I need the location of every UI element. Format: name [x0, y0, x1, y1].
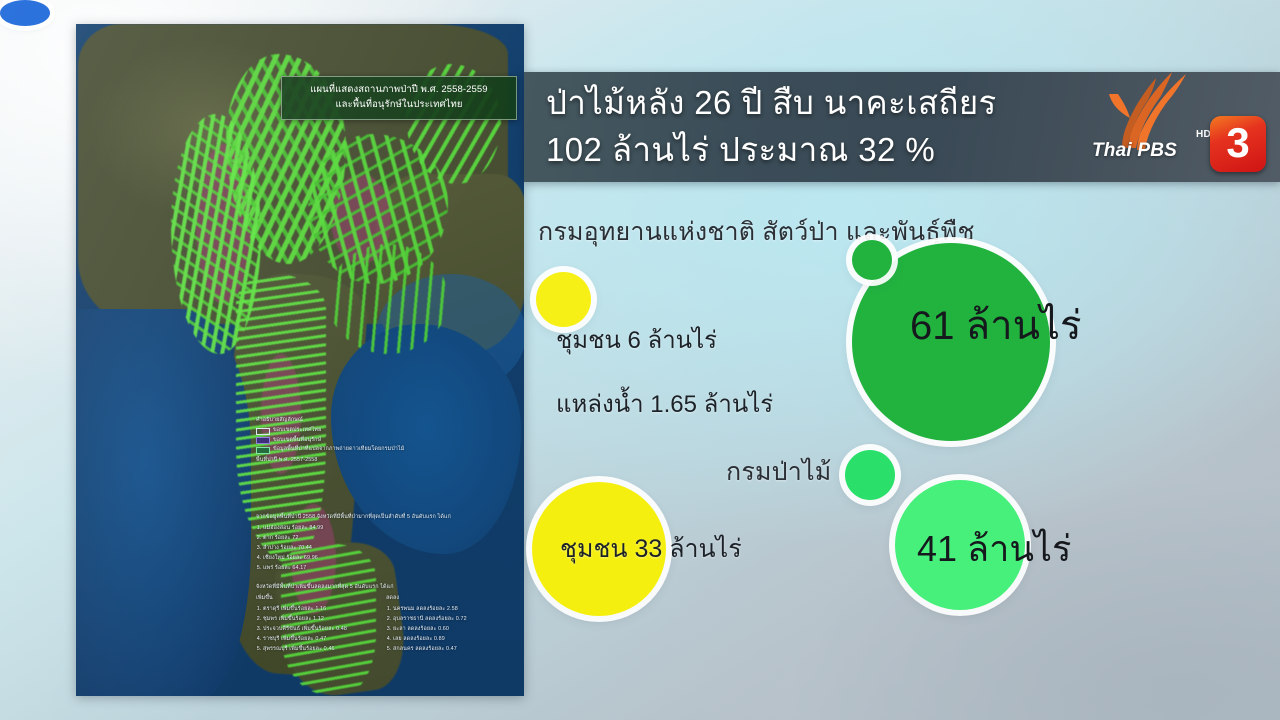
map-change-decrease-column: ลดลง นครพนม ลดลงร้อยละ 2.58 อุบลราชธานี … [386, 593, 504, 654]
legend-swatch-conservation-icon [256, 437, 270, 444]
list-item: ยะลา ลดลงร้อยละ 0.60 [393, 624, 504, 634]
map-forest-cover-patch [328, 244, 448, 354]
legend-swatch-country-icon [256, 428, 270, 435]
thai-pbs-logo: Thai PBS HD 3 [1080, 76, 1270, 180]
map-change-heading: จังหวัดที่มีพื้นที่ป่าเพิ่มขึ้นลดลงมากที… [256, 582, 504, 592]
list-item: อุบลราชธานี ลดลงร้อยละ 0.72 [393, 614, 504, 624]
rfd-forest-bubble: 41 ล้านไร่ [895, 480, 1025, 610]
map-change-block: จังหวัดที่มีพื้นที่ป่าเพิ่มขึ้นลดลงมากที… [256, 582, 504, 654]
map-change-increase-heading: เพิ่มขึ้น [256, 593, 374, 603]
dnp-section-title: กรมอุทยานแห่งชาติ สัตว์ป่า และพันธุ์พืช [538, 212, 975, 252]
list-item: นครพนม ลดลงร้อยละ 2.58 [393, 604, 504, 614]
map-legend-item-label: ข้อมูลพื้นที่ป่าที่แปลจากภาพถ่ายดาวเทียม… [273, 445, 404, 454]
map-title-line-2: และพื้นที่อนุรักษ์ในประเทศไทย [288, 98, 510, 113]
list-item: แม่ฮ่องสอน ร้อยละ 84.99 [263, 523, 452, 533]
list-item: ลำปาง ร้อยละ 70.44 [263, 543, 452, 553]
map-title-line-1: แผนที่แสดงสถานภาพป่าปี พ.ศ. 2558-2559 [288, 83, 510, 98]
map-change-decrease-heading: ลดลง [386, 593, 504, 603]
list-item: เชียงใหม่ ร้อยละ 69.96 [263, 553, 452, 563]
map-legend-item-conservation: ขอบเขตพื้นที่อนุรักษ์ [256, 436, 436, 445]
headline-line-1: ป่าไม้หลัง 26 ปี สืบ นาคะเสถียร [546, 80, 997, 127]
map-legend: คำอธิบายสัญลักษณ์ ขอบเขตประเทศไทย ขอบเขต… [256, 416, 436, 465]
pbs-channel-3-badge: 3 [1210, 116, 1266, 172]
list-item: ราชบุรี เพิ่มขึ้นร้อยละ 0.47 [263, 634, 374, 644]
map-legend-item-country: ขอบเขตประเทศไทย [256, 426, 436, 435]
list-item: ตราดุรี เพิ่มขึ้นร้อยละ 1.16 [263, 604, 374, 614]
headline-line-2: 102 ล้านไร่ ประมาณ 32 % [546, 127, 997, 174]
map-change-increase-column: เพิ่มขึ้น ตราดุรี เพิ่มขึ้นร้อยละ 1.16 ช… [256, 593, 374, 654]
map-legend-item-label: ขอบเขตประเทศไทย [273, 426, 321, 435]
rfd-forest-value: 41 ล้านไร่ [917, 520, 1071, 577]
pbs-wordmark: Thai PBS [1092, 140, 1177, 162]
map-legend-item-forest: ข้อมูลพื้นที่ป่าที่แปลจากภาพถ่ายดาวเทียม… [256, 445, 436, 454]
list-item: ชุมพร เพิ่มขึ้นร้อยละ 1.12 [263, 614, 374, 624]
dnp-forest-bubble-accent [852, 240, 892, 280]
list-item: สกลนคร ลดลงร้อยละ 0.47 [393, 644, 504, 654]
list-item: แพร่ ร้อยละ 64.17 [263, 563, 452, 573]
dnp-community-bubble [536, 272, 591, 327]
map-andaman-sea [76, 309, 251, 696]
map-legend-note: พื้นที่ปาปี พ.ศ. 2557-2558 [256, 456, 436, 465]
rfd-section-title: กรมป่าไม้ [726, 452, 831, 492]
headline: ป่าไม้หลัง 26 ปี สืบ นาคะเสถียร 102 ล้าน… [546, 80, 997, 174]
dnp-water-label: แหล่งน้ำ 1.65 ล้านไร่ [556, 384, 773, 423]
list-item: สุพรรณบุรี เพิ่มขึ้นร้อยละ 0.46 [263, 644, 374, 654]
map-top-provinces-block: จากข้อมูลพื้นที่ป่าปี 2558 จังหวัดที่มีพ… [256, 512, 452, 573]
map-legend-heading: คำอธิบายสัญลักษณ์ [256, 416, 436, 425]
map-change-decrease-list: นครพนม ลดลงร้อยละ 2.58 อุบลราชธานี ลดลงร… [386, 604, 504, 654]
map-legend-item-label: ขอบเขตพื้นที่อนุรักษ์ [273, 436, 321, 445]
map-title-box: แผนที่แสดงสถานภาพป่าปี พ.ศ. 2558-2559 แล… [281, 76, 517, 120]
pbs-hd-badge: HD [1196, 129, 1211, 140]
list-item: ตาก ร้อยละ 72 [263, 533, 452, 543]
map-change-increase-list: ตราดุรี เพิ่มขึ้นร้อยละ 1.16 ชุมพร เพิ่ม… [256, 604, 374, 654]
dnp-forest-value: 61 ล้านไร่ [910, 293, 1082, 357]
dnp-water-bubble [0, 0, 50, 26]
headline-bar: ป่าไม้หลัง 26 ปี สืบ นาคะเสถียร 102 ล้าน… [524, 72, 1280, 182]
rfd-forest-bubble-accent [845, 450, 895, 500]
map-top-provinces-list: แม่ฮ่องสอน ร้อยละ 84.99 ตาก ร้อยละ 72 ลำ… [256, 523, 452, 573]
list-item: ประจวบคีรีขันธ์ เพิ่มขึ้นร้อยละ 0.48 [263, 624, 374, 634]
map-top-provinces-heading: จากข้อมูลพื้นที่ป่าปี 2558 จังหวัดที่มีพ… [256, 512, 452, 522]
forest-status-map-panel: แผนที่แสดงสถานภาพป่าปี พ.ศ. 2558-2559 แล… [76, 24, 524, 696]
list-item: เลย ลดลงร้อยละ 0.89 [393, 634, 504, 644]
broadcast-graphic-stage: แผนที่แสดงสถานภาพป่าปี พ.ศ. 2558-2559 แล… [0, 0, 1280, 720]
rfd-community-label: ชุมชน 33 ล้านไร่ [560, 529, 742, 569]
legend-swatch-forest-icon [256, 447, 270, 454]
dnp-community-label: ชุมชน 6 ล้านไร่ [556, 320, 717, 359]
